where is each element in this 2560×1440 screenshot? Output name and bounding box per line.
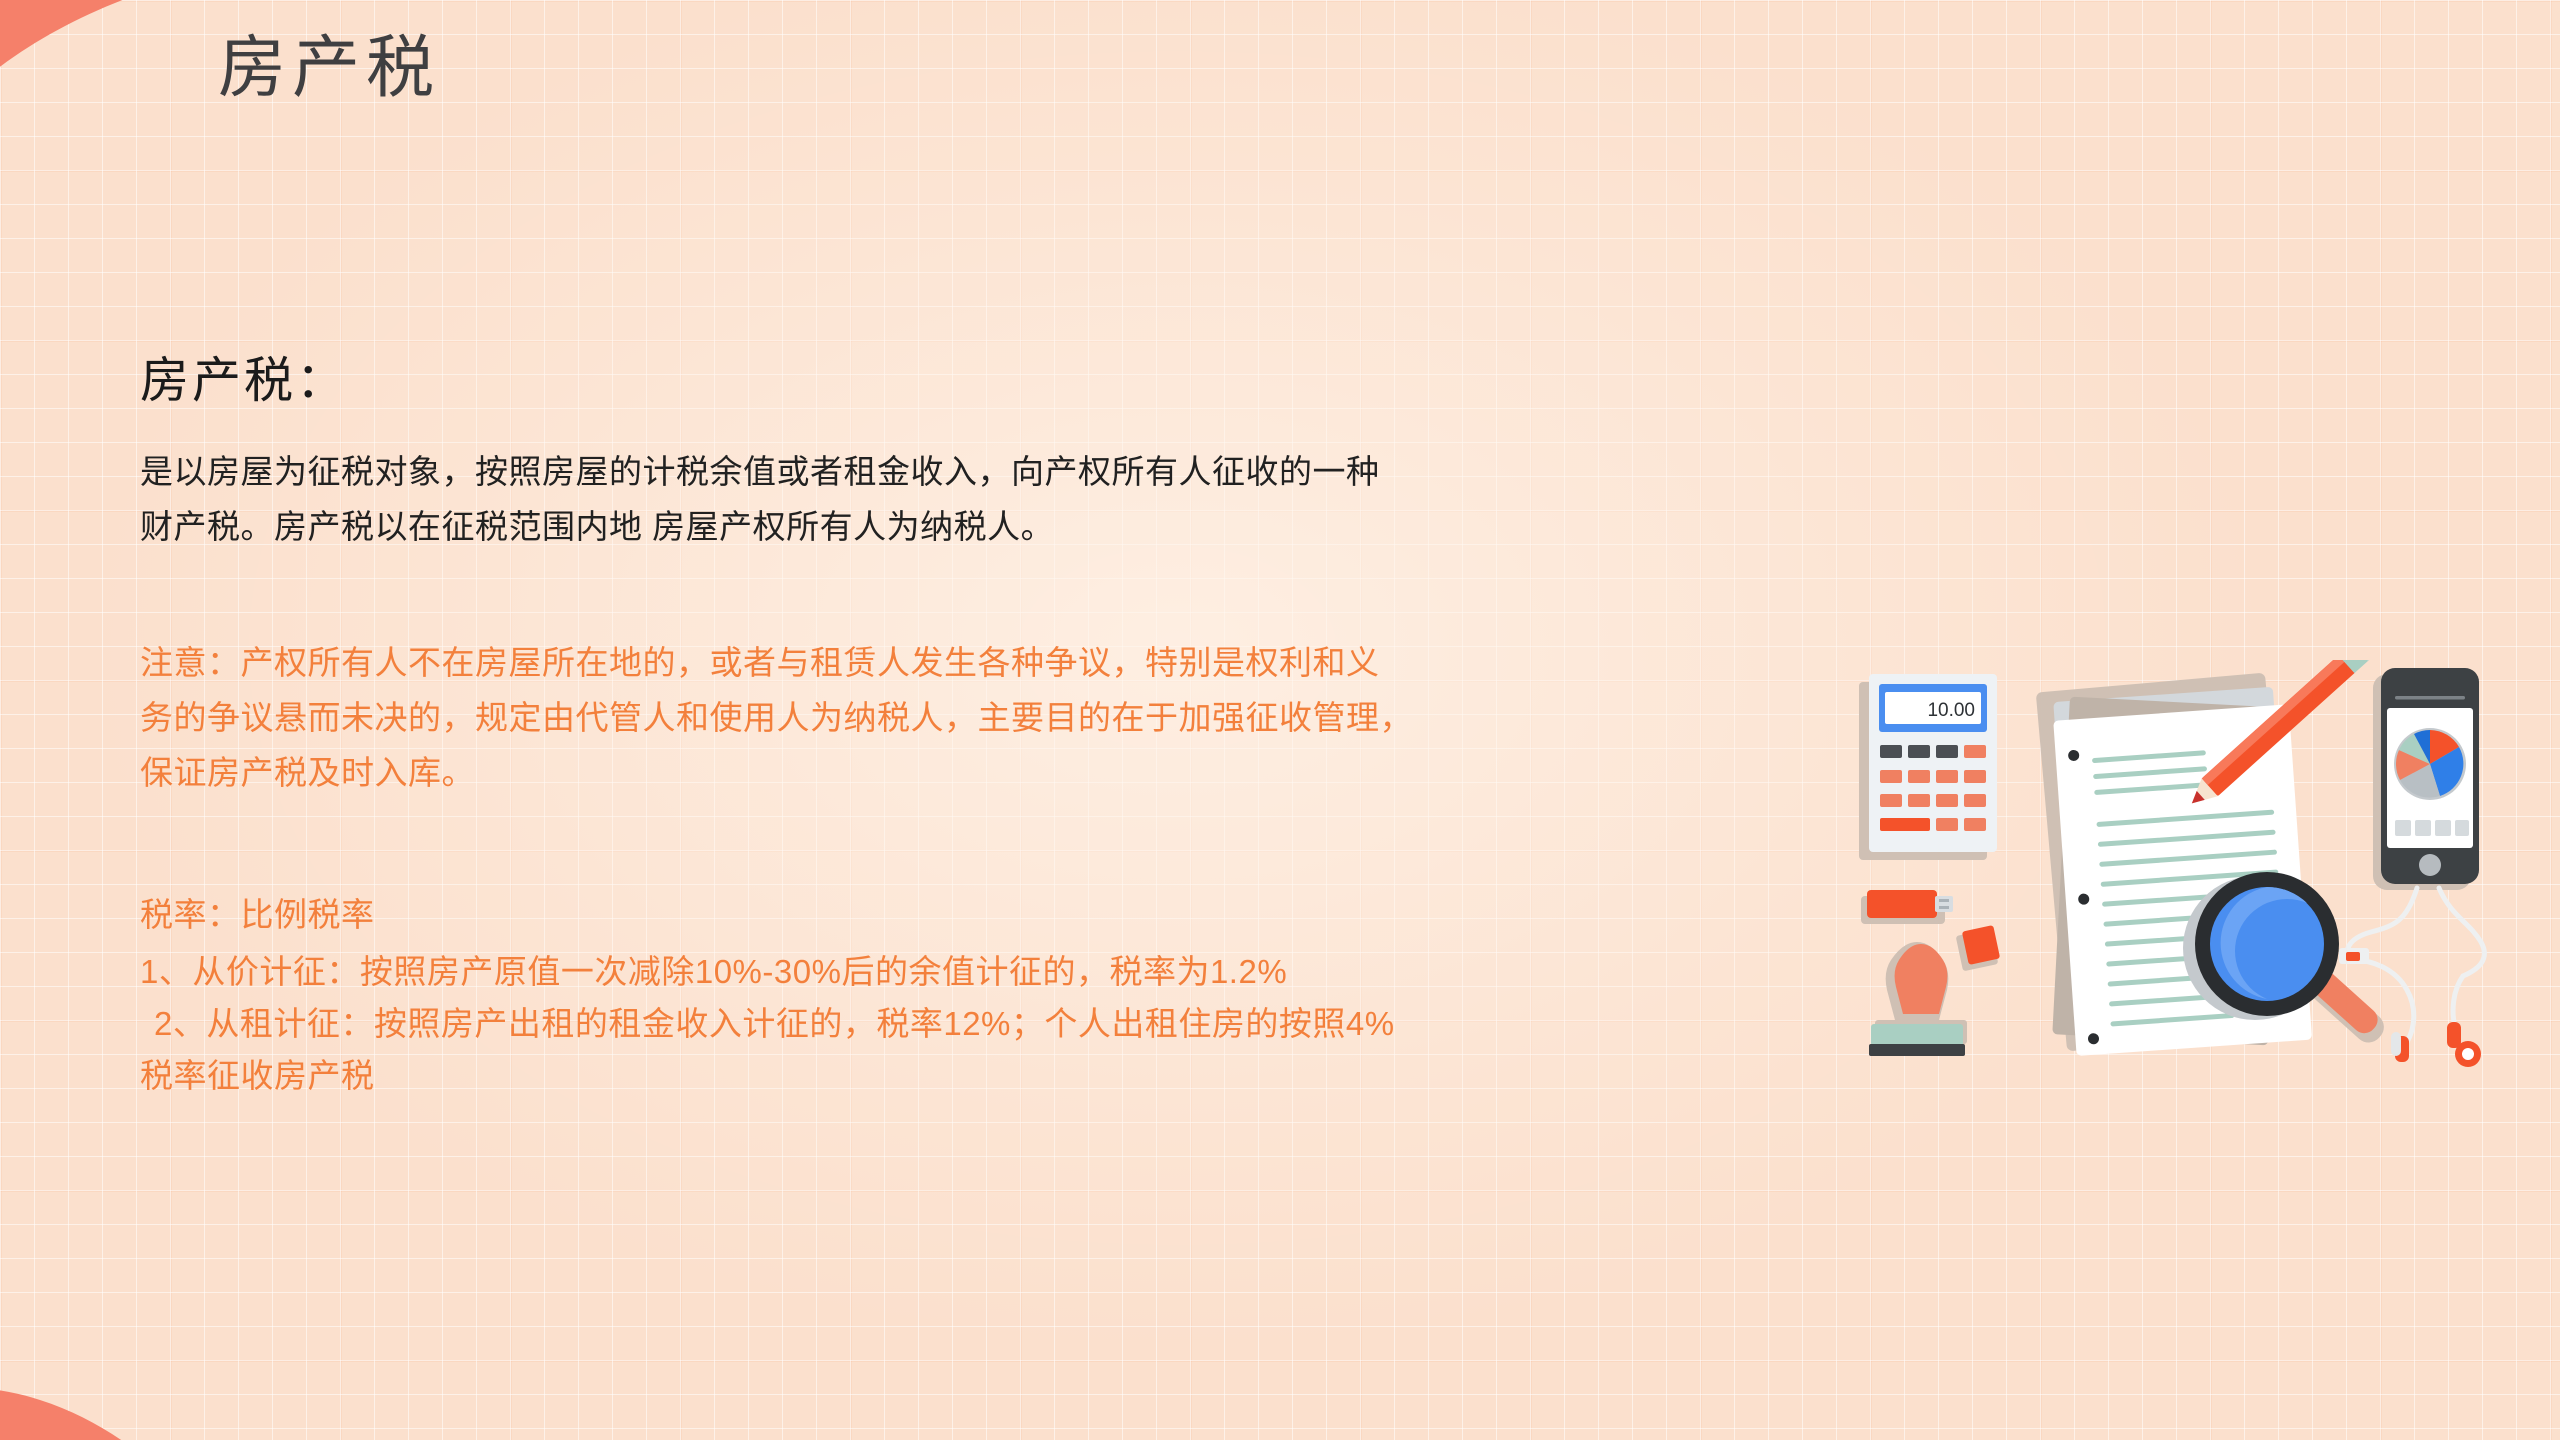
rate-item-3: 税率征收房产税 <box>140 1050 1820 1102</box>
calculator-icon: 10.00 <box>1859 674 1997 860</box>
page-title: 房产税 <box>218 28 440 108</box>
rubber-stamp-icon <box>1869 942 1967 1056</box>
eraser-icon <box>1956 925 2001 971</box>
slide-root: 房产税 房产税： 是以房屋为征税对象，按照房屋的计税余值或者租金收入，向产权所有… <box>0 0 2560 1440</box>
spacer-after-definition <box>140 554 1820 636</box>
calculator-display: 10.00 <box>1927 700 1975 721</box>
rate-item-1: 1、从价计征：按照房产原值一次减除10%-30%后的余值计征的，税率为1.2% <box>140 946 1820 998</box>
definition-paragraph: 是以房屋为征税对象，按照房屋的计税余值或者租金收入，向产权所有人征收的一种 财产… <box>140 445 1820 555</box>
content-body: 房产税： 是以房屋为征税对象，按照房屋的计税余值或者租金收入，向产权所有人征收的… <box>140 352 1820 1102</box>
section-heading: 房产税： <box>140 352 1820 411</box>
usb-drive-icon <box>1861 890 1953 924</box>
spacer-after-notice <box>140 801 1820 889</box>
rate-heading: 税率：比例税率 <box>140 889 1820 940</box>
rate-item-2: 2、从租计征：按照房产出租的租金收入计征的，税率12%；个人出租住房的按照4% <box>140 998 1820 1050</box>
smartphone-icon <box>2373 668 2479 890</box>
pie-chart-icon <box>2394 728 2466 800</box>
tax-desk-illustration: 10.00 <box>1855 660 2495 1080</box>
notice-paragraph: 注意：产权所有人不在房屋所在地的，或者与租赁人发生各种争议，特别是权利和义 务的… <box>140 636 1820 800</box>
